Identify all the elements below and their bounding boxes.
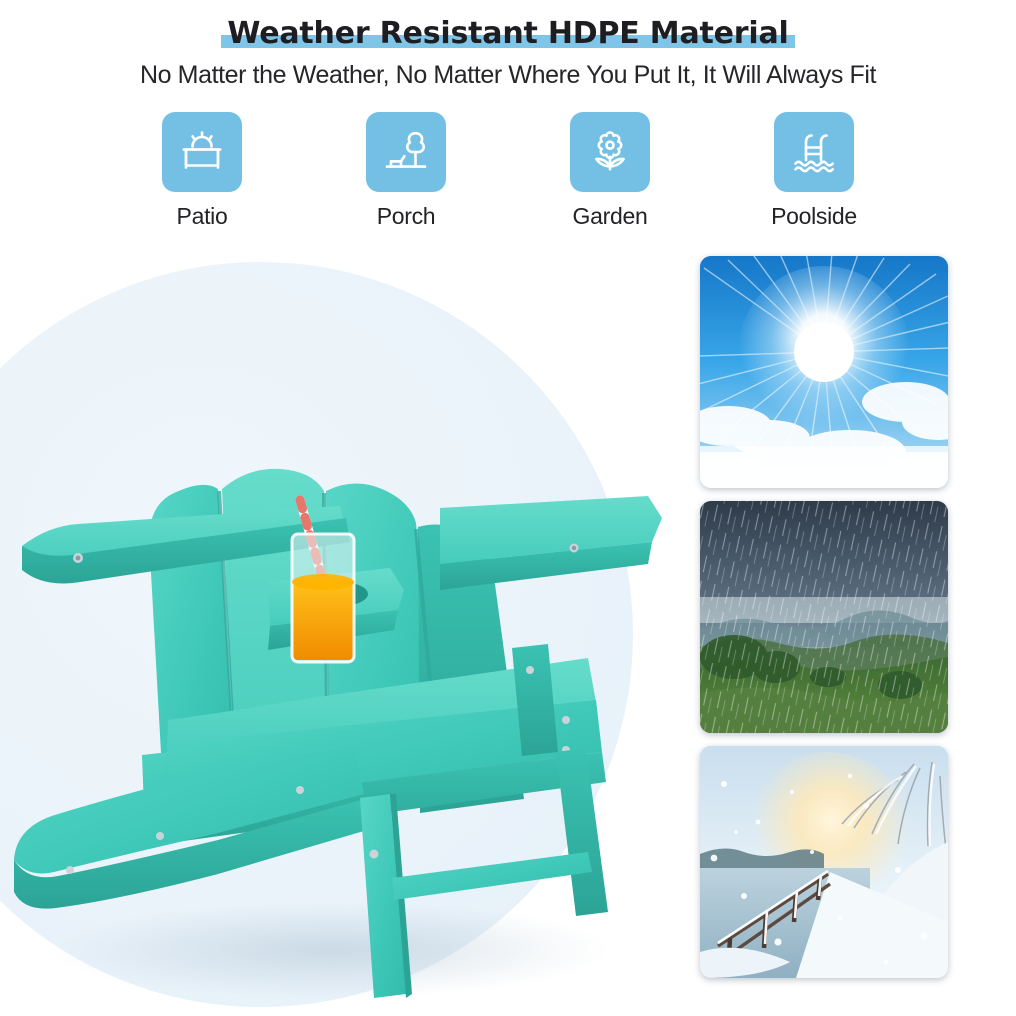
tree-with-bench-icon <box>379 125 433 179</box>
patio-tile <box>162 112 242 192</box>
feature-item-patio: Patio <box>142 112 262 230</box>
porch-tile <box>366 112 446 192</box>
feature-item-porch: Porch <box>346 112 466 230</box>
snowy-lakeside-photo <box>700 746 948 978</box>
chair-ground-shadow <box>50 902 610 998</box>
feature-item-poolside: Poolside <box>754 112 874 230</box>
product-image-adirondack-chair <box>0 250 690 1016</box>
sunny-sky-photo <box>700 256 948 488</box>
feature-item-garden: Garden <box>550 112 670 230</box>
feature-label-poolside: Poolside <box>771 203 857 230</box>
sun-over-patio-table-icon <box>175 125 229 179</box>
flower-with-leaves-icon <box>583 125 637 179</box>
poolside-tile <box>774 112 854 192</box>
chair-armrest-right <box>440 496 662 590</box>
page-title-wrap: Weather Resistant HDPE Material <box>227 18 788 50</box>
feature-list: Patio Porch <box>0 112 1016 230</box>
weather-photo-list <box>700 256 950 991</box>
page-title: Weather Resistant HDPE Material <box>227 18 788 50</box>
feature-label-porch: Porch <box>377 203 436 230</box>
rainy-landscape-photo <box>700 501 948 733</box>
product-infographic: Weather Resistant HDPE Material No Matte… <box>0 0 1016 1016</box>
garden-tile <box>570 112 650 192</box>
header: Weather Resistant HDPE Material No Matte… <box>0 0 1016 90</box>
feature-label-garden: Garden <box>573 203 648 230</box>
page-subtitle: No Matter the Weather, No Matter Where Y… <box>0 61 1016 90</box>
pool-ladder-waves-icon <box>787 125 841 179</box>
feature-label-patio: Patio <box>177 203 228 230</box>
